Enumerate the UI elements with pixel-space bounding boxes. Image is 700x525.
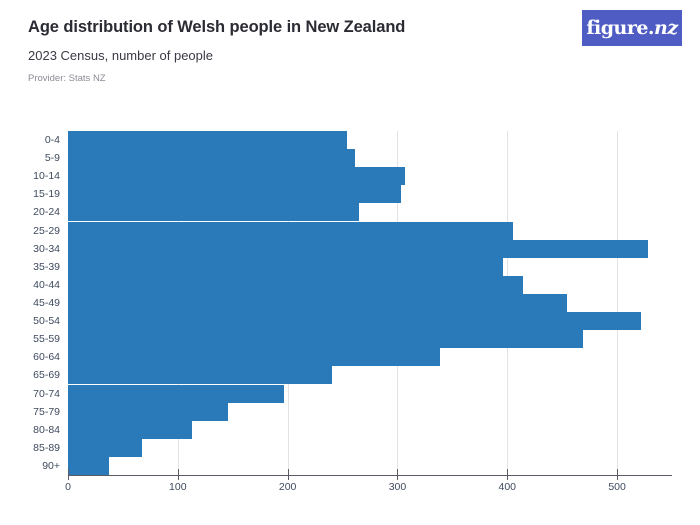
y-axis-label: 5-9 (45, 152, 60, 164)
bar[interactable] (68, 149, 355, 167)
plot-area: 0-45-910-1415-1920-2425-2930-3435-3940-4… (68, 131, 672, 475)
y-axis-label: 15-19 (33, 188, 60, 200)
y-axis-label: 10-14 (33, 170, 60, 182)
bar-row[interactable]: 30-34 (68, 240, 672, 258)
tick-label: 0 (65, 481, 71, 493)
chart-page: Age distribution of Welsh people in New … (0, 0, 700, 525)
bar[interactable] (68, 258, 503, 276)
tick-label: 400 (499, 481, 517, 493)
logo-suffix: nz (654, 17, 678, 39)
y-axis-label: 75-79 (33, 406, 60, 418)
bar[interactable] (68, 185, 401, 203)
bar-row[interactable]: 15-19 (68, 185, 672, 203)
y-axis-label: 25-29 (33, 225, 60, 237)
y-axis-label: 65-69 (33, 369, 60, 381)
bar[interactable] (68, 276, 523, 294)
y-axis-label: 20-24 (33, 206, 60, 218)
bar-row[interactable]: 20-24 (68, 203, 672, 221)
bar-row[interactable]: 10-14 (68, 167, 672, 185)
tick-label: 200 (279, 481, 297, 493)
bar[interactable] (68, 403, 228, 421)
bar-row[interactable]: 65-69 (68, 366, 672, 384)
tick-mark (507, 469, 508, 480)
y-axis-label: 30-34 (33, 243, 60, 255)
chart-provider: Provider: Stats NZ (28, 74, 568, 84)
tick-label: 300 (389, 481, 407, 493)
bar[interactable] (68, 222, 513, 240)
bar[interactable] (68, 366, 332, 384)
y-axis-label: 35-39 (33, 261, 60, 273)
bar-row[interactable]: 35-39 (68, 258, 672, 276)
bar[interactable] (68, 131, 347, 149)
bar-row[interactable]: 25-29 (68, 222, 672, 240)
tick-label: 500 (608, 481, 626, 493)
bar-row[interactable]: 50-54 (68, 312, 672, 330)
y-axis-label: 80-84 (33, 424, 60, 436)
y-axis-label: 55-59 (33, 333, 60, 345)
bar[interactable] (68, 312, 641, 330)
chart-header: Age distribution of Welsh people in New … (28, 18, 568, 85)
y-axis-label: 85-89 (33, 442, 60, 454)
tick-mark (617, 469, 618, 480)
y-axis-label: 70-74 (33, 388, 60, 400)
bar[interactable] (68, 294, 567, 312)
bar[interactable] (68, 240, 648, 258)
chart-subtitle: 2023 Census, number of people (28, 49, 568, 63)
bar-row[interactable]: 70-74 (68, 385, 672, 403)
bar-row[interactable]: 5-9 (68, 149, 672, 167)
tick-label: 100 (169, 481, 187, 493)
bar-row[interactable]: 0-4 (68, 131, 672, 149)
bar[interactable] (68, 167, 405, 185)
y-axis-label: 0-4 (45, 134, 60, 146)
y-axis-label: 90+ (42, 460, 60, 472)
logo-name: figure. (586, 17, 654, 39)
bar-row[interactable]: 80-84 (68, 421, 672, 439)
bar[interactable] (68, 348, 440, 366)
bar-row[interactable]: 45-49 (68, 294, 672, 312)
logo-text: figure.nz (586, 17, 677, 39)
bar-row[interactable]: 60-64 (68, 348, 672, 366)
y-axis-label: 60-64 (33, 351, 60, 363)
bar[interactable] (68, 439, 142, 457)
bar-row[interactable]: 85-89 (68, 439, 672, 457)
bar-row[interactable]: 75-79 (68, 403, 672, 421)
bar[interactable] (68, 203, 359, 221)
tick-mark (68, 469, 69, 480)
bar[interactable] (68, 330, 583, 348)
bar[interactable] (68, 385, 284, 403)
tick-mark (397, 469, 398, 480)
x-axis-ticks: 0100200300400500 (68, 469, 672, 499)
y-axis-label: 40-44 (33, 279, 60, 291)
bar-row[interactable]: 40-44 (68, 276, 672, 294)
page-title: Age distribution of Welsh people in New … (28, 18, 568, 36)
y-axis-label: 45-49 (33, 297, 60, 309)
tick-mark (288, 469, 289, 480)
bar[interactable] (68, 421, 192, 439)
bar-row[interactable]: 55-59 (68, 330, 672, 348)
bar-series: 0-45-910-1415-1920-2425-2930-3435-3940-4… (68, 131, 672, 475)
tick-mark (178, 469, 179, 480)
figurenz-logo[interactable]: figure.nz (582, 10, 682, 46)
y-axis-label: 50-54 (33, 315, 60, 327)
